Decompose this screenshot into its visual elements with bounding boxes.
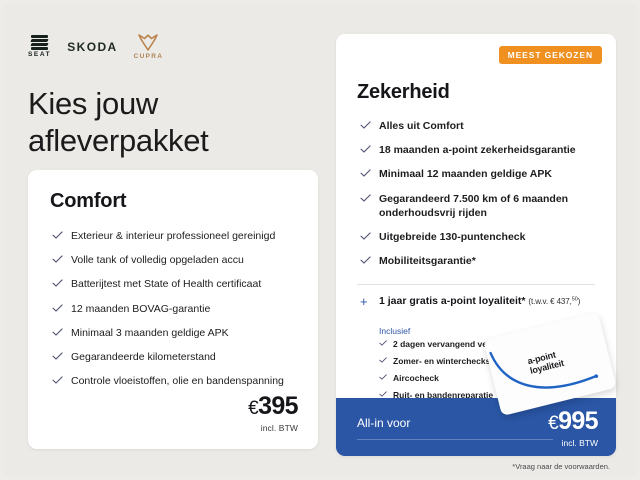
cupra-mark-icon [138,34,158,51]
list-item: Batterijtest met State of Health certifi… [52,277,302,291]
comfort-price: €395 [248,394,298,419]
list-item-label: 18 maanden a-point zekerheidsgarantie [379,144,576,156]
page-root: SEAT SKODA CUPRA Kies jouw afleverpakket… [0,0,640,480]
list-item-label: Mobiliteitsgarantie* [379,255,476,267]
zekerheid-price-block: €995 incl. BTW [548,409,598,448]
list-item-label: Alles uit Comfort [379,120,464,132]
cupra-logo: CUPRA [134,34,164,60]
loyalty-bonus-title: 1 jaar gratis a-point loyaliteit* (t.w.v… [360,295,610,308]
seat-logo: SEAT [28,35,51,59]
list-item: Controle vloeistoffen, olie en bandenspa… [52,374,302,388]
check-icon [360,232,371,240]
zekerheid-price-footer: All-in voor €995 incl. BTW [336,398,616,456]
list-item: Mobiliteitsgarantie* [360,254,608,268]
list-item-label: 12 maanden BOVAG-garantie [71,303,210,315]
comfort-price-note: incl. BTW [248,423,298,433]
footer-rule [357,439,553,440]
loyalty-bonus-value: (t.w.v. € 437,50) [528,297,580,306]
list-item-label: Minimaal 3 maanden geldige APK [71,327,229,339]
status-badge: MEEST GEKOZEN [499,46,602,64]
list-item: Gegarandeerd 7.500 km of 6 maanden onder… [360,192,608,220]
comfort-price-block: €395 incl. BTW [248,394,298,433]
list-item-label: Minimaal 12 maanden geldige APK [379,168,552,180]
list-item-label: Zomer- en winterchecks [393,356,490,366]
currency-symbol: € [248,398,258,419]
brand-logo-bar: SEAT SKODA CUPRA [28,34,163,60]
page-frame: SEAT SKODA CUPRA Kies jouw afleverpakket… [4,4,636,476]
check-icon [52,255,63,263]
check-icon [379,357,387,363]
check-icon [379,391,387,397]
check-icon [52,376,63,384]
list-item: Uitgebreide 130-puntencheck [360,230,608,244]
price-value: 995 [558,407,598,435]
check-icon [52,279,63,287]
plus-icon: + [360,295,368,308]
loyalty-bonus-label: 1 jaar gratis a-point loyaliteit* [379,295,525,307]
allin-label: All-in voor [357,416,410,430]
list-item-label: Controle vloeistoffen, olie en bandenspa… [71,375,284,387]
list-item-label: Volle tank of volledig opgeladen accu [71,254,244,266]
loyalty-bonus-row: + 1 jaar gratis a-point loyaliteit* (t.w… [360,295,610,308]
cupra-wordmark: CUPRA [134,53,164,60]
footnote: *Vraag naar de voorwaarden. [512,462,610,471]
check-icon [52,352,63,360]
comfort-feature-list: Exterieur & interieur professioneel gere… [52,229,302,398]
list-item: Volle tank of volledig opgeladen accu [52,253,302,267]
check-icon [379,340,387,346]
comfort-package-card[interactable]: Comfort Exterieur & interieur profession… [28,170,318,449]
check-icon [360,145,371,153]
zekerheid-feature-list: Alles uit Comfort 18 maanden a-point zek… [360,119,608,278]
list-item: Exterieur & interieur professioneel gere… [52,229,302,243]
check-icon [52,231,63,239]
list-item: Alles uit Comfort [360,119,608,133]
currency-symbol: € [548,413,558,434]
seat-wordmark: SEAT [28,52,51,59]
page-title: Kies jouw afleverpakket [28,86,318,159]
seat-mark-icon [31,35,48,50]
check-icon [360,121,371,129]
check-icon [52,328,63,336]
zekerheid-price-note: incl. BTW [548,438,598,448]
list-item: Minimaal 12 maanden geldige APK [360,167,608,181]
zekerheid-title: Zekerheid [357,81,450,104]
list-item-label: Aircocheck [393,373,439,383]
list-item-label: Uitgebreide 130-puntencheck [379,231,525,243]
check-icon [360,256,371,264]
inclusief-label: Inclusief [379,326,410,336]
check-icon [52,304,63,312]
list-item-label: Gegarandeerde kilometerstand [71,351,216,363]
comfort-title: Comfort [50,190,126,213]
price-value: 395 [258,392,298,420]
check-icon [360,169,371,177]
list-item: 18 maanden a-point zekerheidsgarantie [360,143,608,157]
check-icon [379,374,387,380]
zekerheid-price: €995 [548,409,598,434]
list-item: Gegarandeerde kilometerstand [52,350,302,364]
list-item: Minimaal 3 maanden geldige APK [52,326,302,340]
skoda-logo: SKODA [67,40,117,54]
list-item-label: Exterieur & interieur professioneel gere… [71,230,275,242]
list-item-label: Batterijtest met State of Health certifi… [71,278,261,290]
list-item-label: Gegarandeerd 7.500 km of 6 maanden onder… [379,193,568,219]
check-icon [360,194,371,202]
section-divider [357,284,595,285]
list-item: 12 maanden BOVAG-garantie [52,302,302,316]
